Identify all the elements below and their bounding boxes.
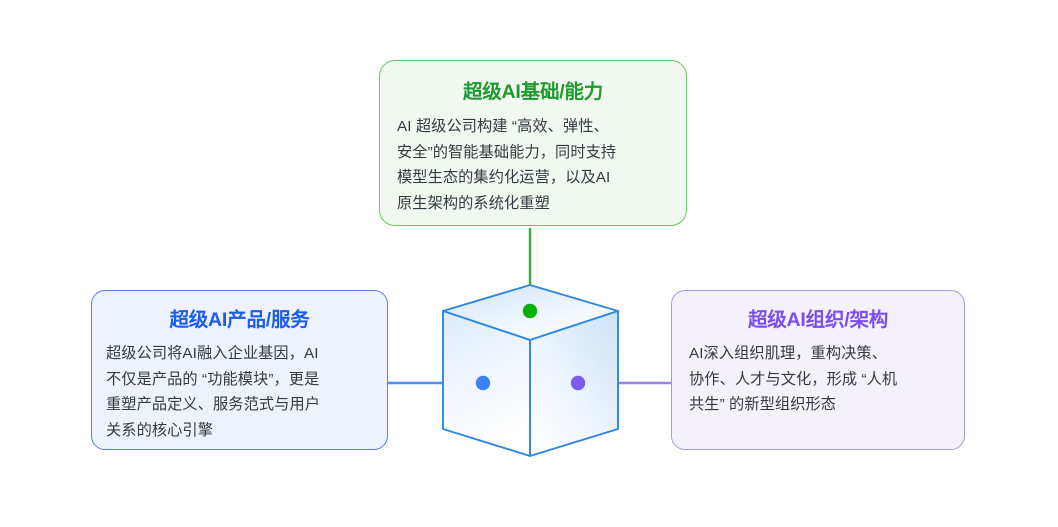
card-organization-body-line: 共生” 的新型组织形态 <box>689 392 947 418</box>
cube-top-face <box>443 285 618 340</box>
card-super-ai-organization[interactable]: 超级AI组织/架构 AI深入组织肌理，重构决策、 协作、人才与文化，形成 “人机… <box>671 290 965 450</box>
card-product-body-line: 关系的核心引擎 <box>106 418 373 444</box>
card-product-body: 超级公司将AI融入企业基因，AI 不仅是产品的 “功能模块”，更是 重塑产品定义… <box>92 332 387 443</box>
card-capability-body-line: AI 超级公司构建 “高效、弹性、 <box>397 114 669 140</box>
card-product-body-line: 重塑产品定义、服务范式与用户 <box>106 392 373 418</box>
card-capability-body-line: 安全”的智能基础能力，同时支持 <box>397 140 669 166</box>
card-super-ai-capability[interactable]: 超级AI基础/能力 AI 超级公司构建 “高效、弹性、 安全”的智能基础能力，同… <box>379 60 687 226</box>
card-capability-body-line: 模型生态的集约化运营，以及AI <box>397 165 669 191</box>
diagram-canvas: 超级AI基础/能力 AI 超级公司构建 “高效、弹性、 安全”的智能基础能力，同… <box>0 0 1058 527</box>
card-organization-title: 超级AI组织/架构 <box>672 291 964 332</box>
card-capability-body: AI 超级公司构建 “高效、弹性、 安全”的智能基础能力，同时支持 模型生态的集… <box>380 104 686 216</box>
card-organization-body-line: 协作、人才与文化，形成 “人机 <box>689 367 947 393</box>
capability-connector-dot <box>523 304 537 318</box>
organization-connector-dot <box>571 376 585 390</box>
card-organization-body-line: AI深入组织肌理，重构决策、 <box>689 341 947 367</box>
card-capability-body-line: 原生架构的系统化重塑 <box>397 191 669 217</box>
card-product-body-line: 不仅是产品的 “功能模块”，更是 <box>106 367 373 393</box>
card-super-ai-product[interactable]: 超级AI产品/服务 超级公司将AI融入企业基因，AI 不仅是产品的 “功能模块”… <box>91 290 388 450</box>
card-product-body-line: 超级公司将AI融入企业基因，AI <box>106 341 373 367</box>
cube-right-face <box>530 311 618 456</box>
card-capability-title: 超级AI基础/能力 <box>380 61 686 104</box>
product-connector-dot <box>476 376 490 390</box>
card-product-title: 超级AI产品/服务 <box>92 291 387 332</box>
card-organization-body: AI深入组织肌理，重构决策、 协作、人才与文化，形成 “人机 共生” 的新型组织… <box>672 332 964 418</box>
cube-left-face <box>443 311 530 456</box>
